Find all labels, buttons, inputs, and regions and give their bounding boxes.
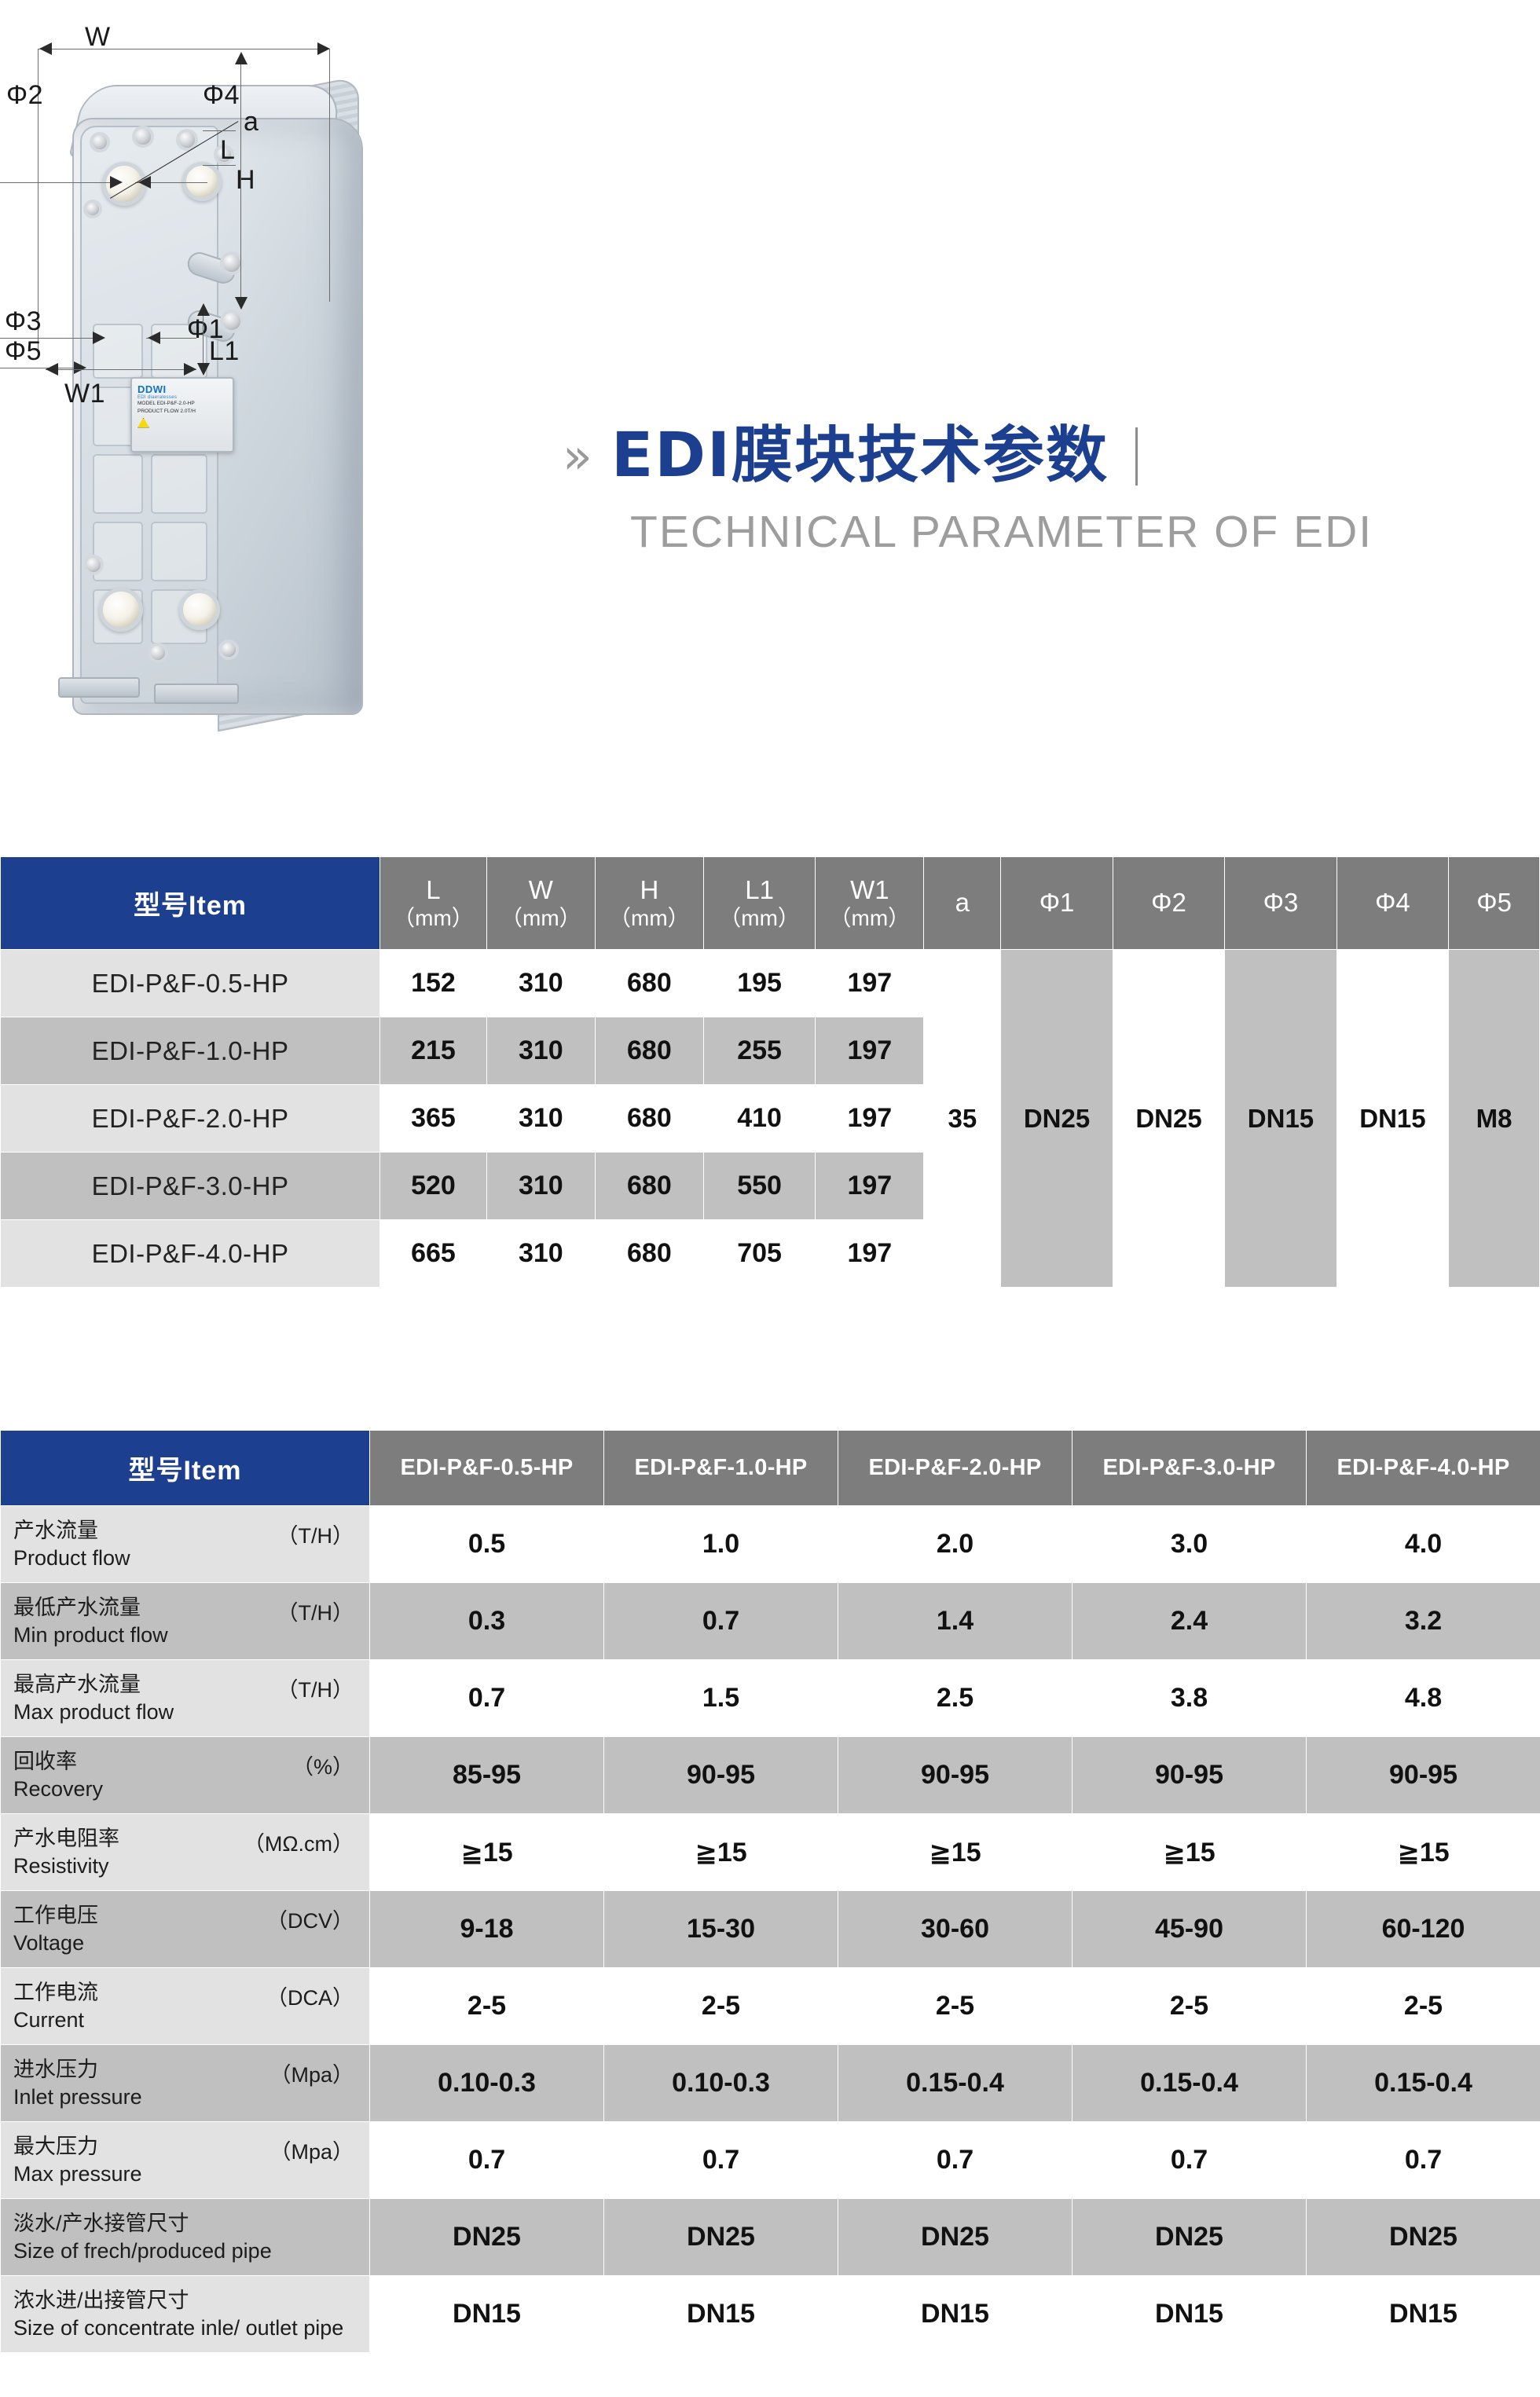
cell-model: EDI-P&F-1.0-HP [1, 1017, 380, 1085]
title-divider [1135, 427, 1138, 486]
cell-W1: 197 [816, 950, 924, 1017]
label-en: Max product flow [13, 1699, 174, 1725]
page-title: EDI膜块技术参数 [611, 424, 1109, 489]
cell-W1: 197 [816, 1220, 924, 1288]
header-phi3: Φ3 [1225, 857, 1336, 950]
cell-value: 2.4 [1072, 1583, 1307, 1660]
label-cn: 工作电压 [13, 1902, 98, 1929]
cell-value: 60-120 [1307, 1891, 1540, 1968]
cell-W1: 197 [816, 1153, 924, 1220]
dim-arrow-l1-bottom [197, 363, 210, 376]
cell-parameter-label: 进水压力Inlet pressure（Mpa） [1, 2045, 370, 2122]
cell-L: 152 [380, 950, 487, 1017]
header-W1: W1（mm） [816, 857, 924, 950]
label-unit: （MΩ.cm） [244, 1825, 358, 1857]
cell-value: 0.7 [1307, 2122, 1540, 2199]
cell-value: ≧15 [604, 1814, 838, 1891]
label-unit: （T/H） [277, 1671, 359, 1703]
header-item: 型号Item [1, 1431, 370, 1506]
cell-value: 0.10-0.3 [604, 2045, 838, 2122]
cell-value: ≧15 [370, 1814, 604, 1891]
header-H-name: H [640, 875, 658, 904]
cell-L1: 550 [703, 1153, 815, 1220]
cell-L: 215 [380, 1017, 487, 1085]
cell-parameter-label: 最低产水流量Min product flow（T/H） [1, 1583, 370, 1660]
header-model-1: EDI-P&F-1.0-HP [604, 1431, 838, 1506]
cell-value: 3.8 [1072, 1660, 1307, 1737]
double-chevron-icon: » [563, 432, 592, 481]
cell-value: 2-5 [838, 1968, 1072, 2045]
port-phi4 [182, 162, 222, 201]
cell-value: 0.7 [604, 2122, 838, 2199]
label-unit: （DCV） [266, 1902, 358, 1934]
cell-W: 310 [486, 1017, 595, 1085]
table-row: 最高产水流量Max product flow（T/H）0.71.52.53.84… [1, 1660, 1540, 1737]
leader-phi5 [0, 368, 82, 368]
label-unit: （DCA） [266, 1979, 358, 2011]
header-L-unit: （mm） [380, 905, 486, 931]
cell-value: 85-95 [370, 1737, 604, 1814]
label-en: Voltage [13, 1930, 98, 1956]
cell-parameter-label: 工作电压Voltage（DCV） [1, 1891, 370, 1968]
mounting-foot [154, 684, 239, 704]
table-header-row: 型号Item EDI-P&F-0.5-HP EDI-P&F-1.0-HP EDI… [1, 1431, 1540, 1506]
face-grid-cell [151, 522, 207, 581]
label-unit: （T/H） [277, 1594, 359, 1626]
cell-value: 1.4 [838, 1583, 1072, 1660]
label-en: Resistivity [13, 1853, 119, 1879]
table-row: 产水流量Product flow（T/H）0.51.02.03.04.0 [1, 1506, 1540, 1583]
cell-value: 1.5 [604, 1660, 838, 1737]
hero-section: DDWI EDI diaeralesses MODEL EDI-P&F-2.0-… [0, 0, 1540, 817]
cell-parameter-label: 产水流量Product flow（T/H） [1, 1506, 370, 1583]
cell-value: 4.8 [1307, 1660, 1540, 1737]
dim-arrow-phi1 [148, 332, 160, 344]
cell-value: DN15 [1072, 2276, 1307, 2353]
dim-label-a: a [244, 107, 258, 137]
header-H: H（mm） [595, 857, 703, 950]
cell-L1: 410 [703, 1085, 815, 1153]
cell-value: 0.7 [370, 2122, 604, 2199]
cell-phi4: DN15 [1336, 950, 1448, 1288]
table-row: 回收率Recovery（%）85-9590-9590-9590-9590-95 [1, 1737, 1540, 1814]
label-cn: 产水流量 [13, 1517, 130, 1544]
cell-value: 45-90 [1072, 1891, 1307, 1968]
cell-value: DN15 [604, 2276, 838, 2353]
header-model-2: EDI-P&F-2.0-HP [838, 1431, 1072, 1506]
cell-value: 2-5 [604, 1968, 838, 2045]
header-model-0: EDI-P&F-0.5-HP [370, 1431, 604, 1506]
tick-l-bottom [203, 165, 236, 166]
product-nameplate: DDWI EDI diaeralesses MODEL EDI-P&F-2.0-… [130, 377, 234, 453]
dim-arrow-w1-left [46, 363, 58, 376]
label-en: Current [13, 2007, 98, 2033]
cell-value: 2-5 [370, 1968, 604, 2045]
face-grid-cell [93, 454, 143, 514]
product-diagram: DDWI EDI diaeralesses MODEL EDI-P&F-2.0-… [0, 0, 550, 817]
cell-L1: 195 [703, 950, 815, 1017]
label-en: Min product flow [13, 1622, 168, 1648]
header-L1-unit: （mm） [704, 905, 815, 931]
dim-label-phi4: Φ4 [203, 80, 240, 111]
dim-label-phi5: Φ5 [5, 336, 42, 367]
label-unit [354, 2287, 358, 2289]
cell-value: 0.5 [370, 1506, 604, 1583]
bolt [90, 132, 110, 152]
cell-L: 665 [380, 1220, 487, 1288]
label-cn: 最低产水流量 [13, 1594, 168, 1621]
table-row: 最大压力Max pressure（Mpa）0.70.70.70.70.7 [1, 2122, 1540, 2199]
cell-value: 3.0 [1072, 1506, 1307, 1583]
header-H-unit: （mm） [596, 905, 703, 931]
warning-triangle-icon [137, 418, 149, 428]
dim-arrow-phi2 [110, 176, 123, 189]
header-phi4: Φ4 [1336, 857, 1448, 950]
cell-a: 35 [924, 950, 1001, 1288]
label-cn: 进水压力 [13, 2056, 142, 2083]
cell-parameter-label: 回收率Recovery（%） [1, 1737, 370, 1814]
cell-H: 680 [595, 1085, 703, 1153]
dimensions-table-container: 型号Item L（mm） W（mm） H（mm） L1（mm） W1（mm） a… [0, 856, 1540, 1288]
dim-arrow-h-top [235, 52, 247, 64]
tick-l-top [203, 130, 236, 131]
label-unit: （%） [292, 1748, 358, 1780]
dim-arrow-w-left [39, 42, 52, 55]
cell-value: 2.0 [838, 1506, 1072, 1583]
header-a: a [924, 857, 1001, 950]
dimensions-table: 型号Item L（mm） W（mm） H（mm） L1（mm） W1（mm） a… [0, 856, 1540, 1288]
table-row: 进水压力Inlet pressure（Mpa）0.10-0.30.10-0.30… [1, 2045, 1540, 2122]
dim-label-l1: L1 [209, 336, 240, 367]
cell-phi3: DN15 [1225, 950, 1336, 1288]
cell-value: 90-95 [838, 1737, 1072, 1814]
header-W1-name: W1 [850, 875, 889, 904]
label-unit [354, 2210, 358, 2212]
label-unit: （T/H） [277, 1517, 359, 1549]
cell-value: 0.15-0.4 [1072, 2045, 1307, 2122]
cell-value: 0.7 [1072, 2122, 1307, 2199]
label-unit: （Mpa） [269, 2133, 358, 2165]
ext-line-w-right [329, 49, 330, 302]
edi-module-illustration: DDWI EDI diaeralesses MODEL EDI-P&F-2.0-… [72, 118, 363, 715]
table-header-row: 型号Item L（mm） W（mm） H（mm） L1（mm） W1（mm） a… [1, 857, 1540, 950]
table-row: 工作电压Voltage（DCV）9-1815-3030-6045-9060-12… [1, 1891, 1540, 1968]
cell-value: 2.5 [838, 1660, 1072, 1737]
cell-value: 0.15-0.4 [838, 2045, 1072, 2122]
cell-value: DN25 [1307, 2199, 1540, 2276]
cell-parameter-label: 最大压力Max pressure（Mpa） [1, 2122, 370, 2199]
label-en: Inlet pressure [13, 2084, 142, 2110]
header-model-3: EDI-P&F-3.0-HP [1072, 1431, 1307, 1506]
cell-model: EDI-P&F-0.5-HP [1, 950, 380, 1017]
bolt [148, 643, 168, 663]
port-phi3 [99, 588, 143, 632]
header-L-name: L [426, 875, 440, 904]
cell-value: 90-95 [1072, 1737, 1307, 1814]
label-cn: 最大压力 [13, 2133, 142, 2160]
table-row: 产水电阻率Resistivity（MΩ.cm）≧15≧15≧15≧15≧15 [1, 1814, 1540, 1891]
cell-value: DN25 [370, 2199, 604, 2276]
cell-model: EDI-P&F-3.0-HP [1, 1153, 380, 1220]
label-cn: 最高产水流量 [13, 1671, 174, 1698]
header-W-name: W [529, 875, 553, 904]
dim-line-h [240, 57, 241, 305]
cell-L: 520 [380, 1153, 487, 1220]
cell-W: 310 [486, 950, 595, 1017]
cell-value: 0.7 [604, 1583, 838, 1660]
cell-L: 365 [380, 1085, 487, 1153]
face-grid-cell [151, 454, 207, 514]
cell-value: 15-30 [604, 1891, 838, 1968]
cell-model: EDI-P&F-2.0-HP [1, 1085, 380, 1153]
cell-W: 310 [486, 1085, 595, 1153]
cell-value: 9-18 [370, 1891, 604, 1968]
dim-label-phi2: Φ2 [6, 80, 43, 111]
dim-arrow-w1-right [184, 363, 196, 376]
label-cn: 回收率 [13, 1748, 103, 1775]
label-en: Product flow [13, 1545, 130, 1571]
cell-value: 0.7 [838, 2122, 1072, 2199]
cell-value: DN25 [1072, 2199, 1307, 2276]
bolt [83, 200, 102, 218]
cell-value: ≧15 [1072, 1814, 1307, 1891]
cell-H: 680 [595, 1017, 703, 1085]
cell-value: ≧15 [1307, 1814, 1540, 1891]
header-L1-name: L1 [745, 875, 774, 904]
dim-line-w [38, 49, 330, 49]
cell-value: 90-95 [604, 1737, 838, 1814]
mounting-foot [58, 677, 140, 698]
cell-value: DN25 [604, 2199, 838, 2276]
cell-value: DN15 [370, 2276, 604, 2353]
dim-arrow-w-right [317, 42, 330, 55]
label-en: Max pressure [13, 2161, 142, 2187]
cell-value: DN15 [838, 2276, 1072, 2353]
label-cn: 淡水/产水接管尺寸 [13, 2210, 272, 2237]
table-row: 浓水进/出接管尺寸Size of concentrate inle/ outle… [1, 2276, 1540, 2353]
cell-parameter-label: 淡水/产水接管尺寸Size of frech/produced pipe [1, 2199, 370, 2276]
table-row: 最低产水流量Min product flow（T/H）0.30.71.42.43… [1, 1583, 1540, 1660]
header-model-4: EDI-P&F-4.0-HP [1307, 1431, 1540, 1506]
section-title: » EDI膜块技术参数 TECHNICAL PARAMETER OF EDI [563, 424, 1529, 558]
cell-value: 90-95 [1307, 1737, 1540, 1814]
dim-label-l: L [220, 135, 235, 166]
cell-parameter-label: 最高产水流量Max product flow（T/H） [1, 1660, 370, 1737]
cell-phi1: DN25 [1001, 950, 1113, 1288]
header-L1: L1（mm） [703, 857, 815, 950]
dim-label-w1: W1 [64, 379, 105, 409]
cell-value: 0.10-0.3 [370, 2045, 604, 2122]
bolt-phi5 [83, 555, 104, 575]
dim-arrow-phi5 [74, 361, 86, 374]
cell-H: 680 [595, 1153, 703, 1220]
nameplate-model: MODEL EDI-P&F-2.0-HP [137, 400, 227, 408]
cell-phi5: M8 [1449, 950, 1540, 1288]
cell-H: 680 [595, 1220, 703, 1288]
cell-value: 0.3 [370, 1583, 604, 1660]
cell-value: 4.0 [1307, 1506, 1540, 1583]
cell-parameter-label: 工作电流Current（DCA） [1, 1968, 370, 2045]
performance-table: 型号Item EDI-P&F-0.5-HP EDI-P&F-1.0-HP EDI… [0, 1430, 1540, 2353]
header-item: 型号Item [1, 857, 380, 950]
cell-value: ≧15 [838, 1814, 1072, 1891]
cell-value: 3.2 [1307, 1583, 1540, 1660]
cell-parameter-label: 产水电阻率Resistivity（MΩ.cm） [1, 1814, 370, 1891]
label-cn: 浓水进/出接管尺寸 [13, 2287, 343, 2314]
cell-L1: 705 [703, 1220, 815, 1288]
leader-phi2 [0, 182, 118, 183]
bolt [132, 126, 154, 148]
nameplate-flow: PRODUCT FLOW 2.0T/H [137, 408, 227, 416]
table-row: EDI-P&F-0.5-HP 152 310 680 195 197 35 DN… [1, 950, 1540, 1017]
label-cn: 工作电流 [13, 1979, 98, 2006]
cell-value: 2-5 [1307, 1968, 1540, 2045]
dim-label-phi3: Φ3 [5, 306, 42, 337]
cell-model: EDI-P&F-4.0-HP [1, 1220, 380, 1288]
cell-L1: 255 [703, 1017, 815, 1085]
cell-value: 1.0 [604, 1506, 838, 1583]
bolt [218, 640, 239, 660]
cell-value: 2-5 [1072, 1968, 1307, 2045]
cell-W: 310 [486, 1220, 595, 1288]
cell-value: 30-60 [838, 1891, 1072, 1968]
label-unit: （Mpa） [269, 2056, 358, 2088]
cell-phi2: DN25 [1113, 950, 1224, 1288]
dim-arrow-h-bottom [235, 297, 247, 310]
table-row: 淡水/产水接管尺寸Size of frech/produced pipeDN25… [1, 2199, 1540, 2276]
cell-W1: 197 [816, 1017, 924, 1085]
page-subtitle: TECHNICAL PARAMETER OF EDI [630, 506, 1529, 558]
label-en: Size of frech/produced pipe [13, 2238, 272, 2264]
header-W-unit: （mm） [487, 905, 595, 931]
cell-value: 0.7 [370, 1660, 604, 1737]
header-W: W（mm） [486, 857, 595, 950]
dim-line-w1 [46, 369, 196, 370]
port-phi1 [179, 589, 220, 630]
cell-H: 680 [595, 950, 703, 1017]
header-L: L（mm） [380, 857, 487, 950]
cell-parameter-label: 浓水进/出接管尺寸Size of concentrate inle/ outle… [1, 2276, 370, 2353]
label-en: Recovery [13, 1776, 103, 1802]
cell-W1: 197 [816, 1085, 924, 1153]
header-W1-unit: （mm） [816, 905, 923, 931]
label-cn: 产水电阻率 [13, 1825, 119, 1852]
dim-line-l1 [203, 308, 203, 371]
table-row: 工作电流Current（DCA）2-52-52-52-52-5 [1, 1968, 1540, 2045]
dim-arrow-l1-top [197, 303, 210, 316]
label-en: Size of concentrate inle/ outlet pipe [13, 2315, 343, 2341]
dim-arrow-phi3 [93, 332, 105, 344]
nameplate-brand: DDWI [137, 383, 227, 395]
cell-value: DN15 [1307, 2276, 1540, 2353]
header-phi2: Φ2 [1113, 857, 1224, 950]
header-phi5: Φ5 [1449, 857, 1540, 950]
header-phi1: Φ1 [1001, 857, 1113, 950]
cell-value: 0.15-0.4 [1307, 2045, 1540, 2122]
dim-label-h: H [236, 165, 255, 196]
cell-W: 310 [486, 1153, 595, 1220]
performance-table-container: 型号Item EDI-P&F-0.5-HP EDI-P&F-1.0-HP EDI… [0, 1430, 1540, 2353]
cell-value: DN25 [838, 2199, 1072, 2276]
